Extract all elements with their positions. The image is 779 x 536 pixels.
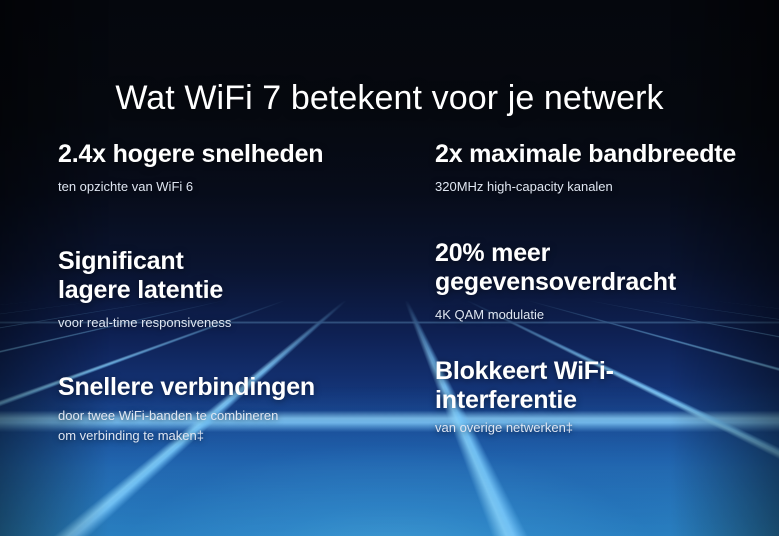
feature-throughput-subtitle: 4K QAM modulatie [435, 305, 771, 325]
feature-connections-title: Snellere verbindingen [58, 373, 378, 403]
feature-interference-title: Blokkeert WiFi- interferentie [435, 357, 771, 416]
feature-connections: Snellere verbindingen door twee WiFi-ban… [58, 373, 378, 447]
page-title: Wat WiFi 7 betekent voor je netwerk [0, 79, 779, 118]
feature-speed-title: 2.4x hogere snelheden [58, 140, 378, 170]
feature-columns: 2.4x hogere snelheden ten opzichte van W… [0, 140, 779, 447]
feature-bandwidth-title: 2x maximale bandbreedte [435, 140, 771, 170]
feature-latency-subtitle: voor real-time responsiveness [58, 313, 378, 333]
feature-connections-subtitle: door twee WiFi-banden te combineren om v… [58, 406, 378, 446]
feature-speed: 2.4x hogere snelheden ten opzichte van W… [58, 140, 378, 197]
right-feature-column: 2x maximale bandbreedte 320MHz high-capa… [390, 140, 779, 447]
feature-interference-subtitle: van overige netwerken‡ [435, 419, 771, 437]
feature-speed-subtitle: ten opzichte van WiFi 6 [58, 177, 378, 197]
feature-throughput: 20% meer gegevensoverdracht 4K QAM modul… [435, 239, 771, 325]
feature-latency: Significant lagere latentie voor real-ti… [58, 247, 378, 333]
feature-bandwidth: 2x maximale bandbreedte 320MHz high-capa… [435, 140, 771, 197]
left-feature-column: 2.4x hogere snelheden ten opzichte van W… [0, 140, 390, 447]
feature-interference: Blokkeert WiFi- interferentie van overig… [435, 357, 771, 437]
feature-throughput-title: 20% meer gegevensoverdracht [435, 239, 771, 298]
feature-latency-title: Significant lagere latentie [58, 247, 378, 306]
slide-content: Wat WiFi 7 betekent voor je netwerk 2.4x… [0, 0, 779, 536]
feature-bandwidth-subtitle: 320MHz high-capacity kanalen [435, 177, 771, 197]
wifi7-feature-slide: Wat WiFi 7 betekent voor je netwerk 2.4x… [0, 0, 779, 536]
